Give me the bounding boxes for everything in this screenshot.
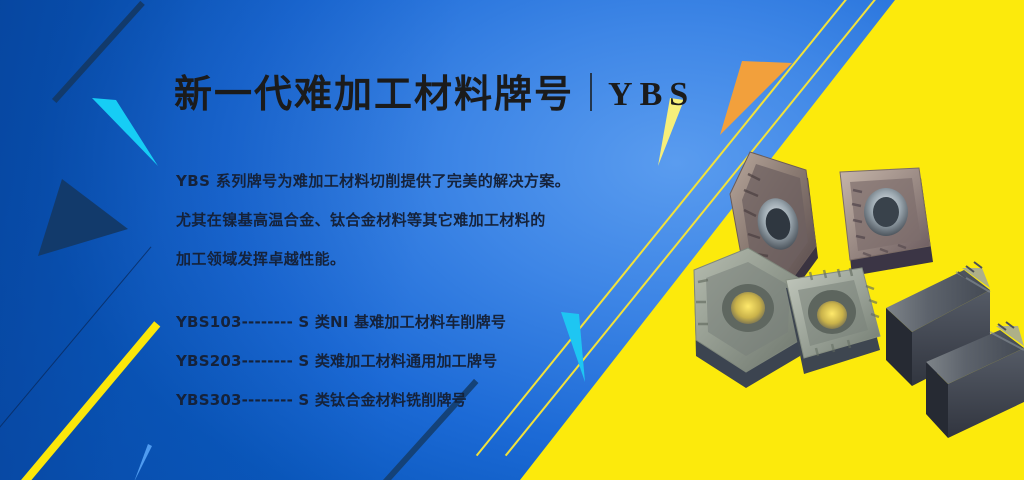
title-divider (590, 73, 592, 111)
square-milling-insert (786, 268, 880, 374)
ybs-product-banner: 新一代难加工材料牌号 YBS YBS 系列牌号为难加工材料切削提供了完美的解决方… (0, 0, 1024, 480)
description-line-1: YBS 系列牌号为难加工材料切削提供了完美的解决方案。 (176, 162, 736, 201)
title-english: YBS (608, 78, 695, 113)
text-content: 新一代难加工材料牌号 YBS YBS 系列牌号为难加工材料切削提供了完美的解决方… (174, 0, 794, 480)
square-turning-insert (840, 168, 933, 276)
small-blue-triangle (126, 444, 166, 480)
description-line-2: 尤其在镍基高温合金、钛合金材料等其它难加工材料的 (176, 201, 736, 240)
description-paragraph: YBS 系列牌号为难加工材料切削提供了完美的解决方案。 尤其在镍基高温合金、钛合… (176, 162, 736, 279)
grade-item-ybs303: YBS303-------- S 类钛合金材料铣削牌号 (176, 381, 736, 420)
grade-item-ybs103: YBS103-------- S 类NI 基难加工材料车削牌号 (176, 303, 736, 342)
grade-item-ybs203: YBS203-------- S 类难加工材料通用加工牌号 (176, 342, 736, 381)
banner-title: 新一代难加工材料牌号 YBS (174, 73, 695, 113)
title-chinese: 新一代难加工材料牌号 (174, 75, 574, 113)
navy-triangle (30, 172, 140, 264)
cyan-triangle (88, 94, 168, 174)
description-line-3: 加工领域发挥卓越性能。 (176, 240, 736, 279)
grade-list: YBS103-------- S 类NI 基难加工材料车削牌号 YBS203--… (176, 303, 736, 420)
